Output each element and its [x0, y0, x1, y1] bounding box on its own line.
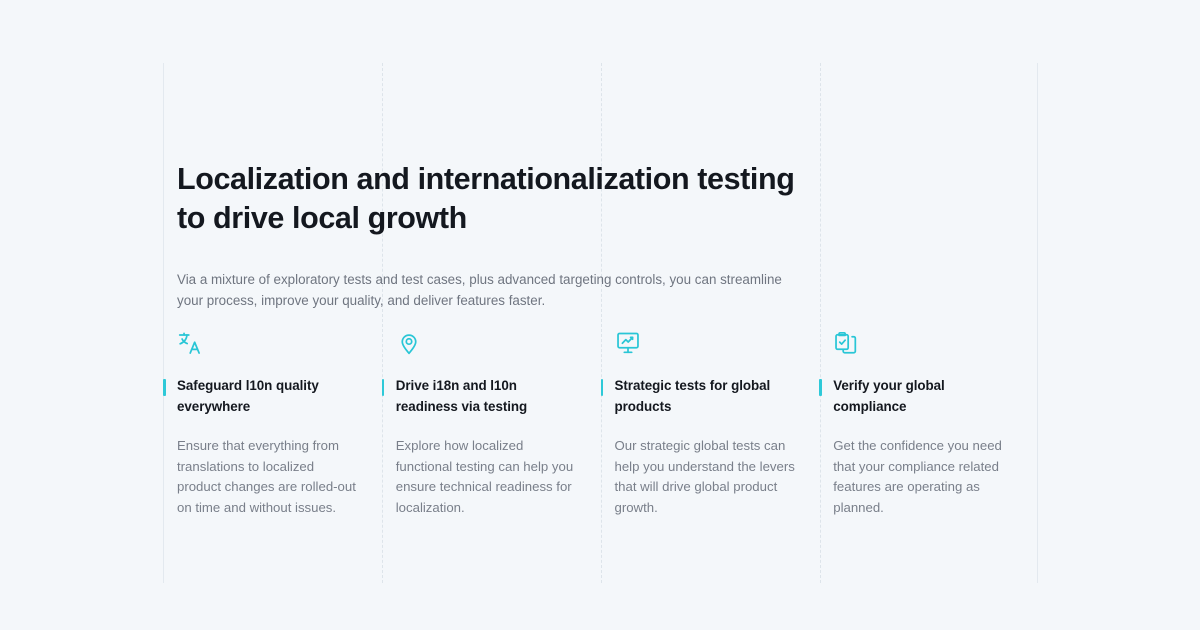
page-subtitle: Via a mixture of exploratory tests and t…	[177, 269, 809, 311]
feature-column-1: Safeguard l10n quality everywhere Ensure…	[163, 330, 382, 518]
feature-heading-1: Safeguard l10n quality everywhere	[177, 376, 360, 417]
feature-body-4: Get the confidence you need that your co…	[833, 436, 1016, 518]
feature-heading-2: Drive i18n and l10n readiness via testin…	[396, 376, 579, 417]
presentation-chart-icon	[615, 330, 798, 360]
page-title: Localization and internationalization te…	[177, 160, 827, 238]
feature-heading-3: Strategic tests for global products	[615, 376, 798, 417]
feature-body-2: Explore how localized functional testing…	[396, 436, 579, 518]
accent-bar-icon	[601, 379, 604, 396]
feature-heading-wrap-3: Strategic tests for global products	[615, 376, 798, 417]
feature-heading-wrap-2: Drive i18n and l10n readiness via testin…	[396, 376, 579, 417]
feature-columns: Safeguard l10n quality everywhere Ensure…	[163, 330, 1038, 518]
accent-bar-icon	[382, 379, 385, 396]
feature-column-4: Verify your global compliance Get the co…	[819, 330, 1038, 518]
clipboard-check-icon	[833, 330, 1016, 360]
feature-heading-wrap-4: Verify your global compliance	[833, 376, 1016, 417]
feature-column-2: Drive i18n and l10n readiness via testin…	[382, 330, 601, 518]
accent-bar-icon	[163, 379, 166, 396]
feature-body-1: Ensure that everything from translations…	[177, 436, 360, 518]
feature-heading-wrap-1: Safeguard l10n quality everywhere	[177, 376, 360, 417]
page-canvas: Localization and internationalization te…	[0, 0, 1200, 630]
location-pin-icon	[396, 330, 579, 360]
accent-bar-icon	[819, 379, 822, 396]
feature-body-3: Our strategic global tests can help you …	[615, 436, 798, 518]
feature-column-3: Strategic tests for global products Our …	[601, 330, 820, 518]
feature-heading-4: Verify your global compliance	[833, 376, 1016, 417]
translate-icon	[177, 330, 360, 360]
